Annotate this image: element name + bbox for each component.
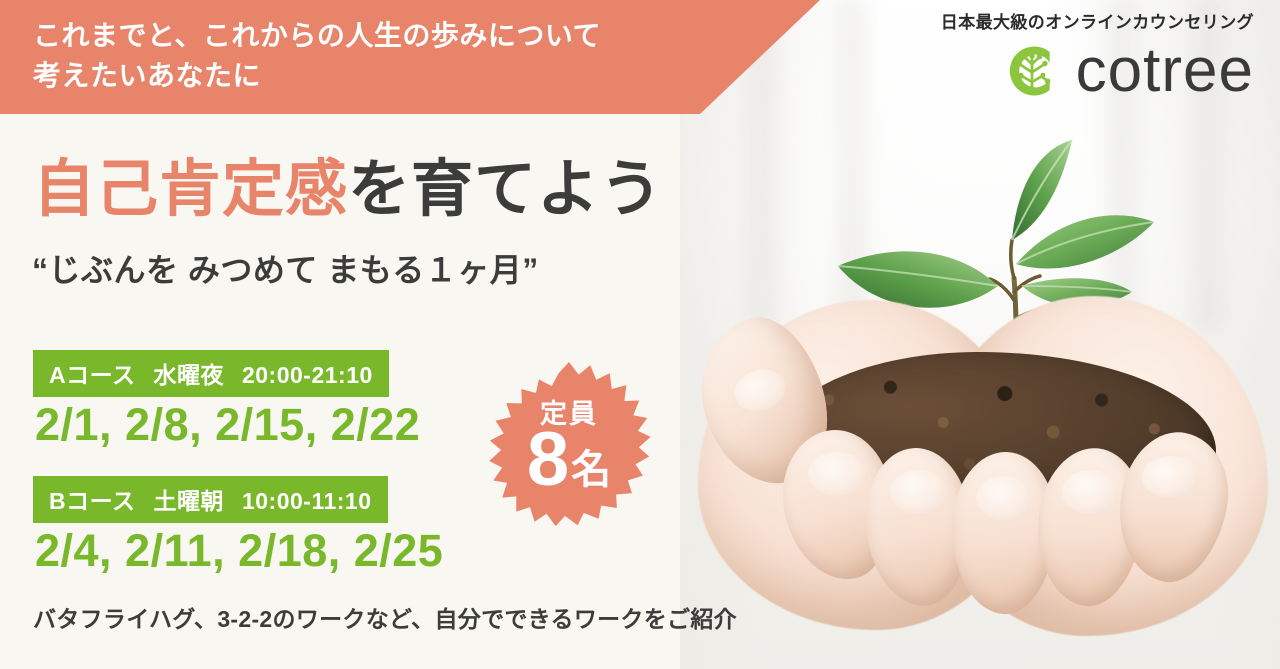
fingernail bbox=[890, 470, 946, 514]
headline-rest: を育てよう bbox=[348, 155, 663, 224]
logo-lockup: cotree bbox=[941, 37, 1254, 105]
course-b-day: 土曜朝 bbox=[153, 488, 224, 514]
course-b-name: Bコース bbox=[49, 488, 135, 514]
badge-number: 8 bbox=[527, 417, 569, 502]
course-a-dates: 2/1, 2/8, 2/15, 2/22 bbox=[35, 399, 420, 451]
course-b-time: 10:00-11:10 bbox=[242, 488, 372, 514]
course-a-name: Aコース bbox=[49, 362, 135, 388]
course-b-label: Bコース土曜朝10:00-11:10 bbox=[33, 476, 388, 523]
capacity-badge: 定員 8名 bbox=[482, 362, 656, 536]
promo-banner: これまでと、これからの人生の歩みについて 考えたいあなたに 日本最大級のオンライ… bbox=[0, 0, 1280, 669]
badge-value: 8名 bbox=[482, 422, 656, 498]
course-a-day: 水曜夜 bbox=[153, 362, 224, 388]
course-a-time: 20:00-21:10 bbox=[242, 362, 373, 388]
page-title: 自己肯定感を育てよう bbox=[33, 157, 663, 222]
headline-accent: 自己肯定感 bbox=[33, 155, 348, 224]
fingernail bbox=[1062, 470, 1118, 514]
footnote-text: バタフライハグ、3-2-2のワークなど、自分でできるワークをご紹介 bbox=[33, 600, 737, 634]
fingernail bbox=[976, 476, 1032, 520]
cotree-logo-block[interactable]: 日本最大級のオンラインカウンセリング bbox=[941, 8, 1254, 105]
page-subtitle: “じぶんを みつめて まもる１ヶ月” bbox=[32, 245, 539, 291]
ribbon-text: これまでと、これからの人生の歩みについて 考えたいあなたに bbox=[33, 16, 693, 96]
logo-tagline: 日本最大級のオンラインカウンセリング bbox=[941, 8, 1254, 33]
course-block-b: Bコース土曜朝10:00-11:10 2/4, 2/11, 2/18, 2/25 bbox=[33, 476, 443, 577]
badge-unit: 名 bbox=[571, 448, 611, 492]
cotree-tree-logo-icon bbox=[998, 37, 1066, 105]
cotree-wordmark: cotree bbox=[1076, 43, 1254, 99]
fingernail bbox=[1142, 456, 1198, 498]
fingernail bbox=[808, 452, 866, 496]
course-b-dates: 2/4, 2/11, 2/18, 2/25 bbox=[35, 525, 443, 577]
course-block-a: Aコース水曜夜20:00-21:10 2/1, 2/8, 2/15, 2/22 bbox=[33, 350, 420, 451]
course-a-label: Aコース水曜夜20:00-21:10 bbox=[33, 350, 389, 397]
